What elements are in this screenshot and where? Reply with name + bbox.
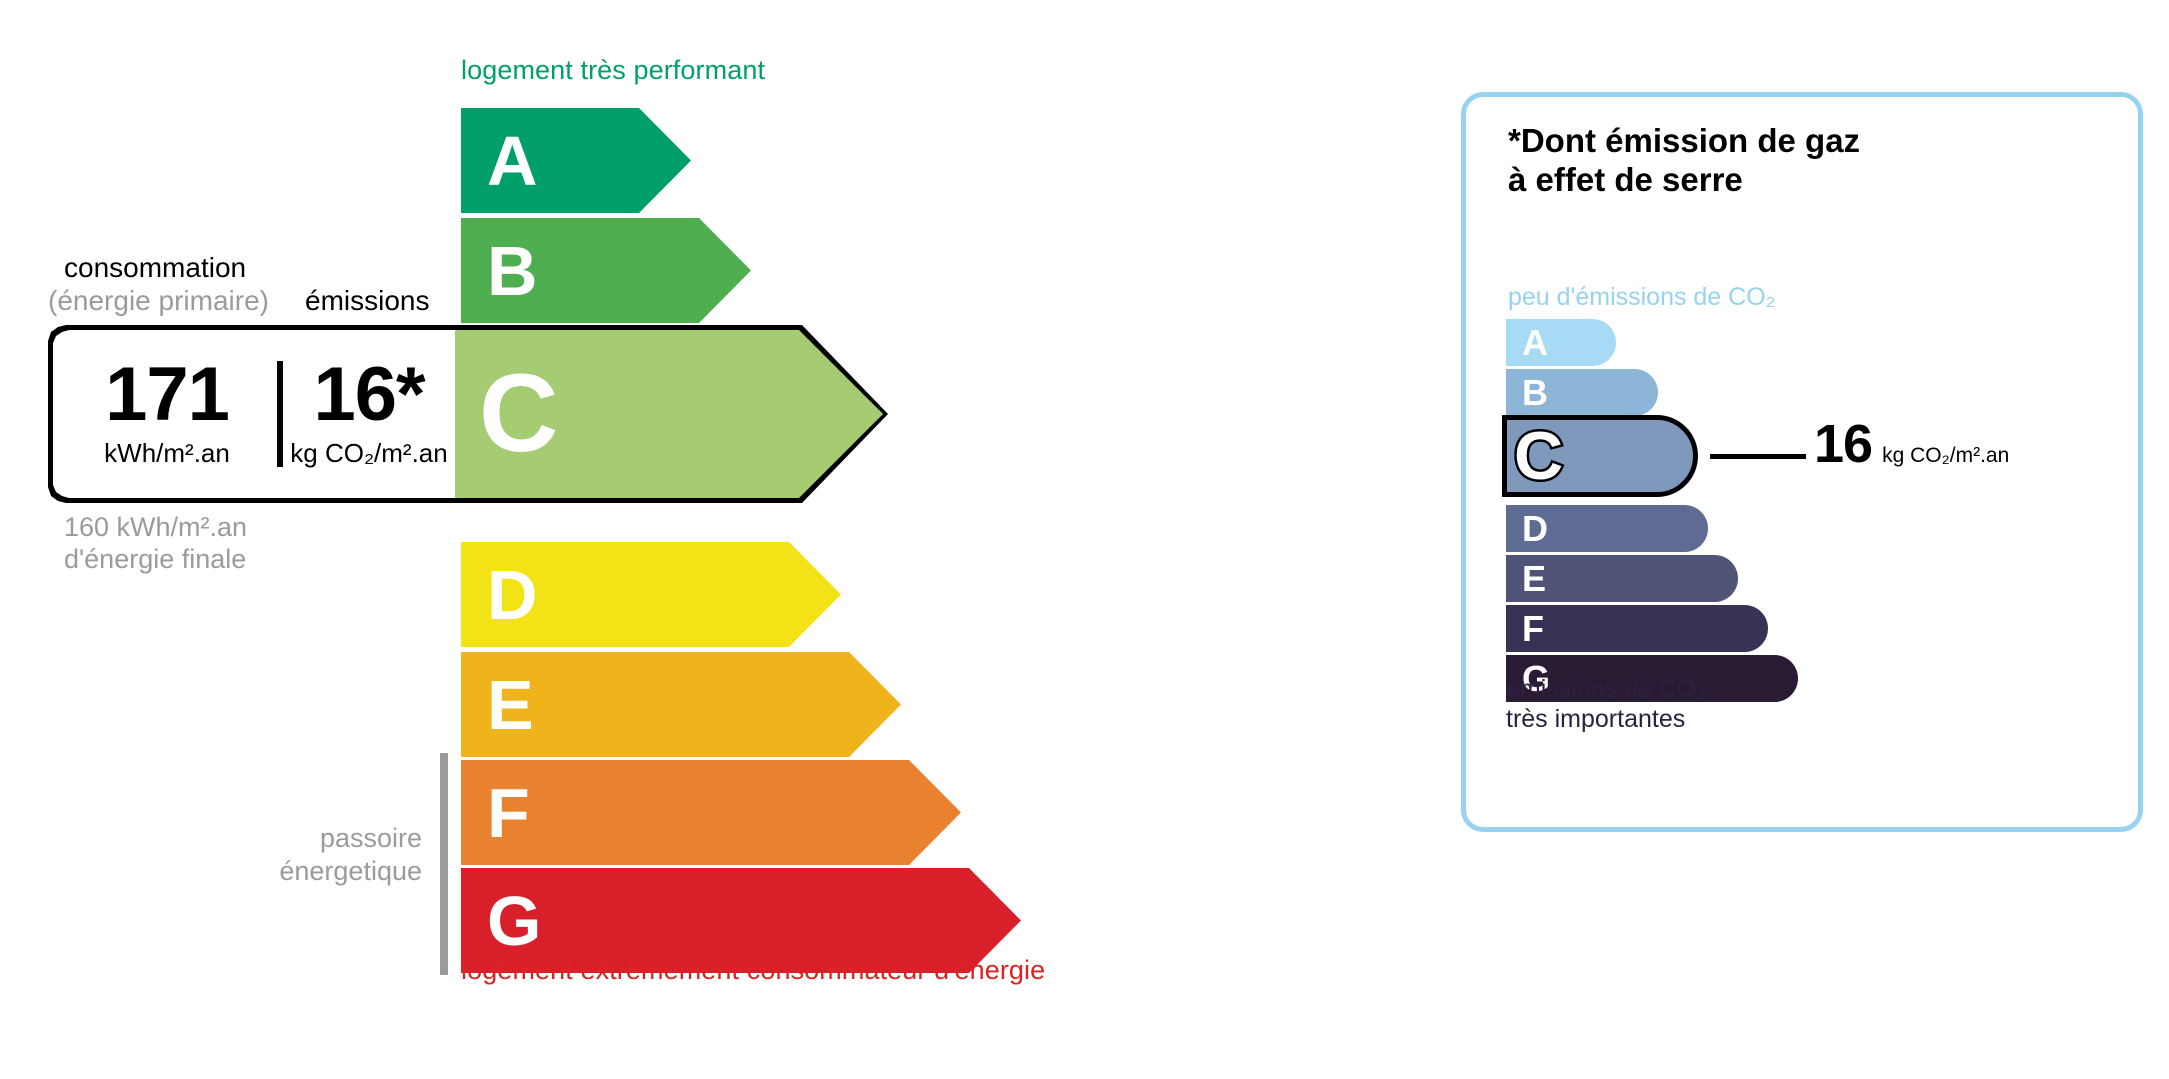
grade-letter-g: G <box>487 886 541 956</box>
co2-letter-d: D <box>1522 511 1548 547</box>
co2-panel-title: *Dont émission de gaz à effet de serre <box>1508 122 1860 200</box>
co2-bottom-caption: émissions de CO₂ très importantes <box>1506 675 1706 734</box>
grade-bar-c: C <box>455 330 883 498</box>
co2-panel-title-line2: à effet de serre <box>1508 161 1860 200</box>
co2-panel-title-line1: *Dont émission de gaz <box>1508 122 1860 161</box>
label-consumption: consommation <box>64 252 246 284</box>
dpe-label: logement très performant A B consommatio… <box>0 0 2169 1079</box>
grade-bar-f: F <box>461 760 961 865</box>
co2-letter-f: F <box>1522 611 1544 647</box>
co2-letter-b: B <box>1522 375 1548 411</box>
grade-bar-a: A <box>461 108 691 213</box>
label-emissions: émissions <box>305 285 429 317</box>
consumption-value: 171 <box>105 359 229 432</box>
co2-leader-line <box>1710 454 1806 459</box>
passoire-label-line1: passoire <box>180 822 422 855</box>
co2-bottom-caption-line2: très importantes <box>1506 705 1706 735</box>
co2-bar-f: F <box>1506 605 1768 652</box>
passoire-label-line2: énergetique <box>180 855 422 888</box>
co2-letter-c: C <box>1514 422 1563 490</box>
co2-bar-d: D <box>1506 505 1708 552</box>
grade-bar-b: B <box>461 218 751 323</box>
grade-letter-c: C <box>479 359 558 469</box>
grade-letter-e: E <box>487 670 534 740</box>
co2-bar-b: B <box>1506 369 1658 416</box>
co2-top-caption: peu d'émissions de CO₂ <box>1508 283 1775 312</box>
selected-grade-row-c: 171 kWh/m².an 16* kg CO₂/m².an C <box>48 325 888 503</box>
co2-emissions-panel: *Dont émission de gaz à effet de serre p… <box>1461 92 2143 832</box>
grade-letter-f: F <box>487 778 530 848</box>
co2-value: 16 <box>1814 417 1872 471</box>
co2-bar-c-selected: C <box>1502 415 1698 497</box>
label-consumption-sub: (énergie primaire) <box>48 285 269 317</box>
co2-value-group: 16 kg CO₂/m².an <box>1814 417 2009 471</box>
grade-bar-e: E <box>461 652 901 757</box>
co2-value-unit: kg CO₂/m².an <box>1882 444 2009 468</box>
passoire-marker-bar <box>440 753 448 975</box>
co2-letter-a: A <box>1522 325 1548 361</box>
emission-unit: kg CO₂/m².an <box>290 438 447 469</box>
ladder-top-caption: logement très performant <box>461 55 765 86</box>
grade-letter-d: D <box>487 560 538 630</box>
co2-bar-e: E <box>1506 555 1738 602</box>
final-energy-note: 160 kWh/m².an d'énergie finale <box>64 512 247 576</box>
consumption-value-cell: 171 kWh/m².an <box>58 330 276 498</box>
final-energy-note-line2: d'énergie finale <box>64 544 247 576</box>
emission-value-cell: 16* kg CO₂/m².an <box>284 330 454 498</box>
consumption-unit: kWh/m².an <box>104 438 230 469</box>
grade-letter-a: A <box>487 126 538 196</box>
co2-bottom-caption-line1: émissions de CO₂ <box>1506 675 1706 705</box>
grade-bar-f-shape <box>461 760 961 865</box>
co2-letter-e: E <box>1522 561 1546 597</box>
final-energy-note-line1: 160 kWh/m².an <box>64 512 247 544</box>
ladder-bottom-caption: logement extrêmement consommateur d'éner… <box>461 955 1045 986</box>
value-cell-divider <box>277 361 283 467</box>
co2-bar-a: A <box>1506 319 1616 366</box>
emission-value: 16* <box>313 359 424 432</box>
grade-bar-d: D <box>461 542 841 647</box>
passoire-label: passoire énergetique <box>180 822 422 888</box>
grade-letter-b: B <box>487 236 538 306</box>
energy-consumption-chart: logement très performant A B consommatio… <box>0 0 1300 1079</box>
